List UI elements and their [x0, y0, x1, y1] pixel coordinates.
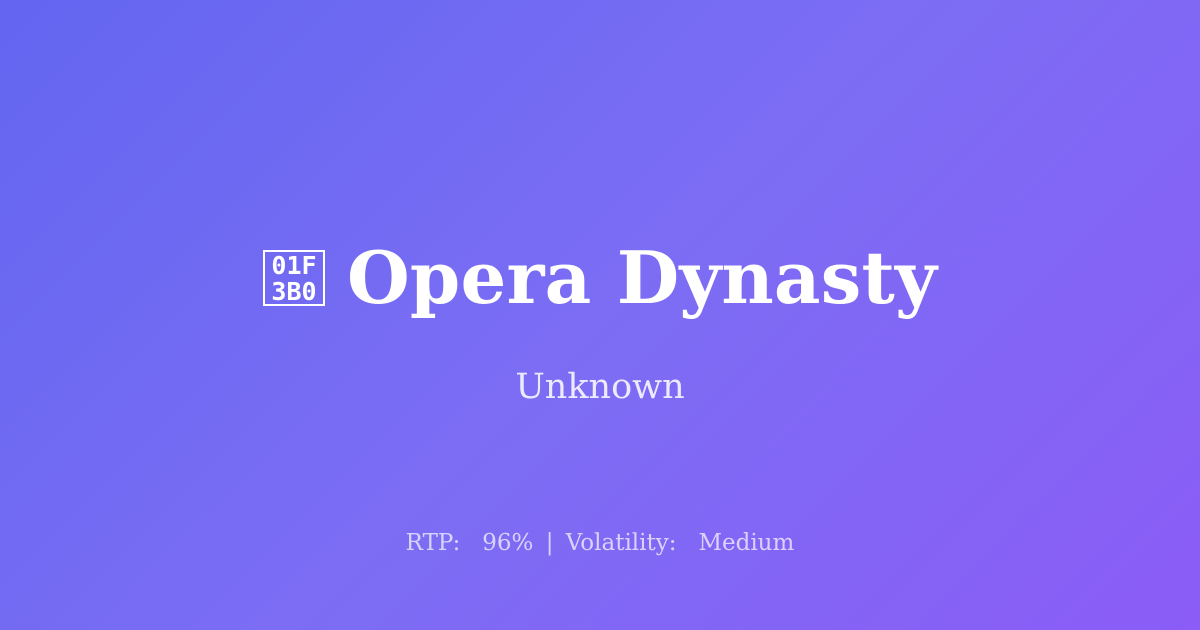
- tofu-codepoint-top: 01F: [271, 253, 316, 279]
- volatility-value: Medium: [698, 530, 794, 556]
- volatility-label: Volatility:: [566, 530, 677, 556]
- tofu-codepoint-bottom: 3B0: [271, 279, 316, 305]
- stats-separator: |: [541, 530, 559, 556]
- slot-machine-icon: 01F 3B0: [263, 250, 325, 306]
- title-row: 01F 3B0 Opera Dynasty: [0, 226, 1200, 330]
- rtp-label: RTP:: [406, 530, 461, 556]
- provider-name: Unknown: [0, 365, 1200, 409]
- game-stats: RTP: 96% | Volatility: Medium: [0, 528, 1200, 558]
- page-title: Opera Dynasty: [347, 228, 937, 328]
- share-card: 01F 3B0 Opera Dynasty Unknown RTP: 96% |…: [0, 0, 1200, 630]
- rtp-value: 96%: [482, 530, 533, 556]
